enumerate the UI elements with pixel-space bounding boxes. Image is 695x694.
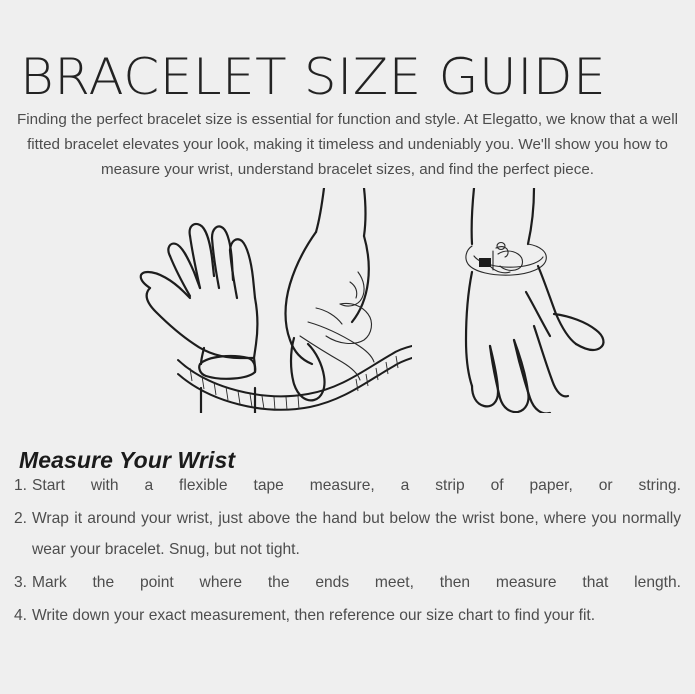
- list-item: 1. Start with a flexible tape measure, a…: [14, 470, 681, 501]
- page-title: BRACELET SIZE GUIDE: [20, 52, 695, 102]
- step-number: 1.: [14, 470, 32, 501]
- list-item: 4. Write down your exact measurement, th…: [14, 600, 681, 631]
- intro-paragraph: Finding the perfect bracelet size is ess…: [16, 107, 679, 182]
- hand-wearing-bracelet-illustration: [430, 188, 660, 413]
- illustration-band: [0, 188, 695, 413]
- step-text: Write down your exact measurement, then …: [32, 600, 681, 631]
- measure-steps-list: 1. Start with a flexible tape measure, a…: [14, 470, 681, 633]
- bracelet-size-guide-page: BRACELET SIZE GUIDE Finding the perfect …: [0, 0, 695, 694]
- measuring-wrist-with-tape-illustration: [112, 188, 412, 413]
- step-text: Mark the point where the ends meet, then…: [32, 567, 681, 598]
- list-item: 2. Wrap it around your wrist, just above…: [14, 503, 681, 565]
- list-item: 3. Mark the point where the ends meet, t…: [14, 567, 681, 598]
- step-number: 4.: [14, 600, 32, 631]
- step-number: 3.: [14, 567, 32, 598]
- step-number: 2.: [14, 503, 32, 534]
- step-text: Wrap it around your wrist, just above th…: [32, 503, 681, 565]
- step-text: Start with a flexible tape measure, a st…: [32, 470, 681, 501]
